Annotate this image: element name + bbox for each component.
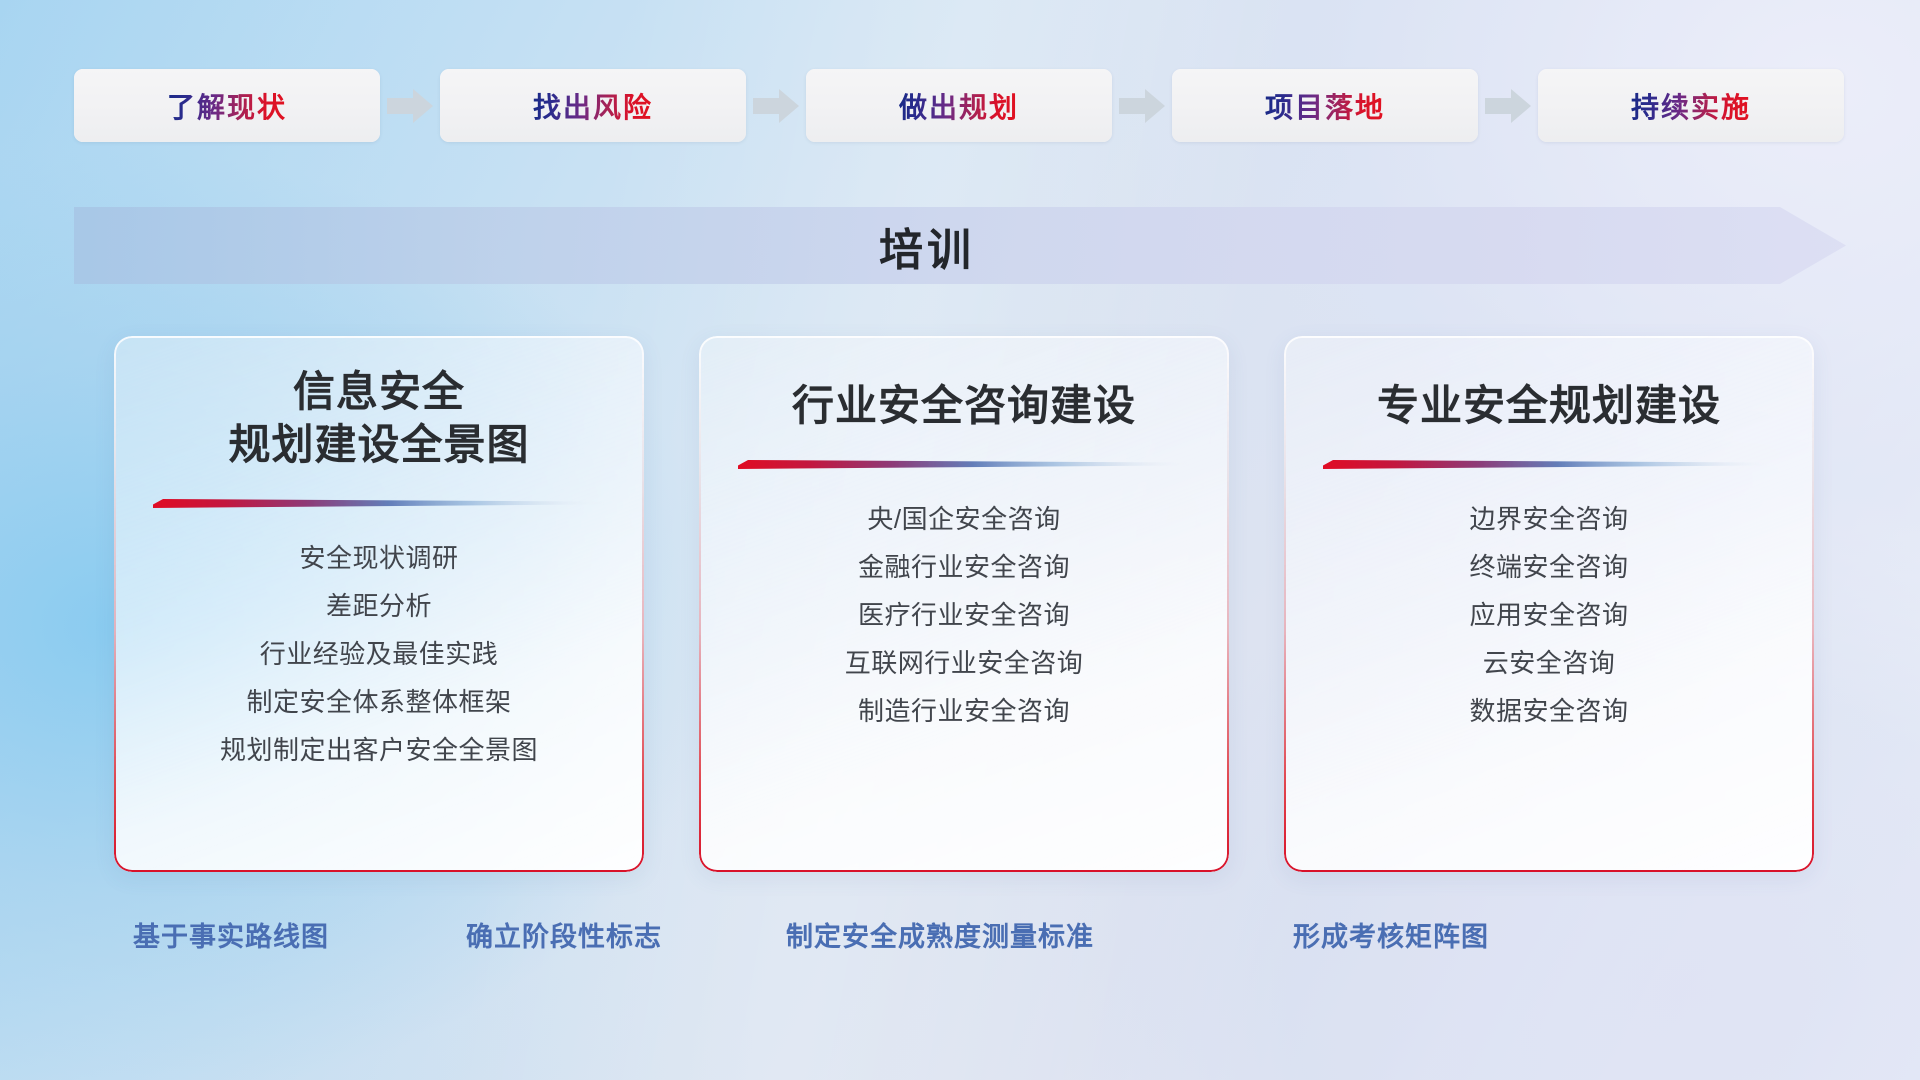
caption-0: 基于事实路线图 — [133, 915, 329, 954]
card-divider-1 — [738, 459, 1190, 471]
step-pill-face-2: 做出规划 — [806, 69, 1112, 142]
card-1[interactable]: 行业安全咨询建设 — [699, 336, 1229, 872]
card-list-1: 央/国企安全咨询 金融行业安全咨询 医疗行业安全咨询 互联网行业安全咨询 制造行… — [699, 495, 1229, 735]
slide-canvas: 了解现状 找出风险 做出规划 — [0, 0, 1920, 1080]
list-item: 制定安全体系整体框架 — [114, 678, 644, 726]
list-item: 云安全咨询 — [1284, 639, 1814, 687]
step-pill-face-4: 持续实施 — [1538, 69, 1844, 142]
card-title-line1-0: 信息安全 — [134, 366, 624, 419]
card-list-2: 边界安全咨询 终端安全咨询 应用安全咨询 云安全咨询 数据安全咨询 — [1284, 495, 1814, 735]
arrow-right-icon — [1478, 69, 1538, 142]
card-title-line2-0: 规划建设全景图 — [134, 419, 624, 472]
step-label-0: 了解现状 — [167, 86, 287, 126]
list-item: 终端安全咨询 — [1284, 543, 1814, 591]
list-item: 安全现状调研 — [114, 534, 644, 582]
card-title-2: 专业安全规划建设 — [1284, 380, 1814, 433]
list-item: 边界安全咨询 — [1284, 495, 1814, 543]
list-item: 制造行业安全咨询 — [699, 687, 1229, 735]
card-2[interactable]: 专业安全规划建设 — [1284, 336, 1814, 872]
caption-2: 制定安全成熟度测量标准 — [786, 915, 1094, 954]
card-title-0: 信息安全 规划建设全景图 — [114, 366, 644, 472]
step-pill-4[interactable]: 持续实施 — [1538, 69, 1844, 142]
arrow-right-icon — [380, 69, 440, 142]
list-item: 应用安全咨询 — [1284, 591, 1814, 639]
process-step-row: 了解现状 找出风险 做出规划 — [74, 69, 1846, 142]
training-banner: 培训 — [74, 207, 1846, 284]
list-item: 规划制定出客户安全全景图 — [114, 726, 644, 774]
step-pill-3[interactable]: 项目落地 — [1172, 69, 1478, 142]
card-title-1: 行业安全咨询建设 — [699, 380, 1229, 433]
list-item: 医疗行业安全咨询 — [699, 591, 1229, 639]
list-item: 数据安全咨询 — [1284, 687, 1814, 735]
step-pill-face-3: 项目落地 — [1172, 69, 1478, 142]
step-pill-face-1: 找出风险 — [440, 69, 746, 142]
card-0[interactable]: 信息安全 规划建设全景图 — [114, 336, 644, 872]
list-item: 行业经验及最佳实践 — [114, 630, 644, 678]
step-label-2: 做出规划 — [899, 86, 1019, 126]
card-list-0: 安全现状调研 差距分析 行业经验及最佳实践 制定安全体系整体框架 规划制定出客户… — [114, 534, 644, 774]
arrow-right-icon — [1112, 69, 1172, 142]
caption-row: 基于事实路线图 确立阶段性标志 制定安全成熟度测量标准 形成考核矩阵图 — [0, 915, 1920, 969]
list-item: 金融行业安全咨询 — [699, 543, 1229, 591]
step-pill-0[interactable]: 了解现状 — [74, 69, 380, 142]
card-divider-0 — [153, 498, 605, 510]
list-item: 差距分析 — [114, 582, 644, 630]
arrow-right-icon — [746, 69, 806, 142]
card-row: 信息安全 规划建设全景图 — [114, 336, 1814, 872]
step-pill-2[interactable]: 做出规划 — [806, 69, 1112, 142]
step-label-4: 持续实施 — [1631, 86, 1751, 126]
card-title-line1-1: 行业安全咨询建设 — [719, 380, 1209, 433]
list-item: 互联网行业安全咨询 — [699, 639, 1229, 687]
step-label-1: 找出风险 — [533, 86, 653, 126]
caption-1: 确立阶段性标志 — [466, 915, 662, 954]
step-label-3: 项目落地 — [1265, 86, 1385, 126]
banner-title: 培训 — [74, 207, 1846, 284]
list-item: 央/国企安全咨询 — [699, 495, 1229, 543]
card-divider-2 — [1323, 459, 1775, 471]
caption-3: 形成考核矩阵图 — [1293, 915, 1489, 954]
step-pill-1[interactable]: 找出风险 — [440, 69, 746, 142]
step-pill-face-0: 了解现状 — [74, 69, 380, 142]
card-title-line1-2: 专业安全规划建设 — [1304, 380, 1794, 433]
